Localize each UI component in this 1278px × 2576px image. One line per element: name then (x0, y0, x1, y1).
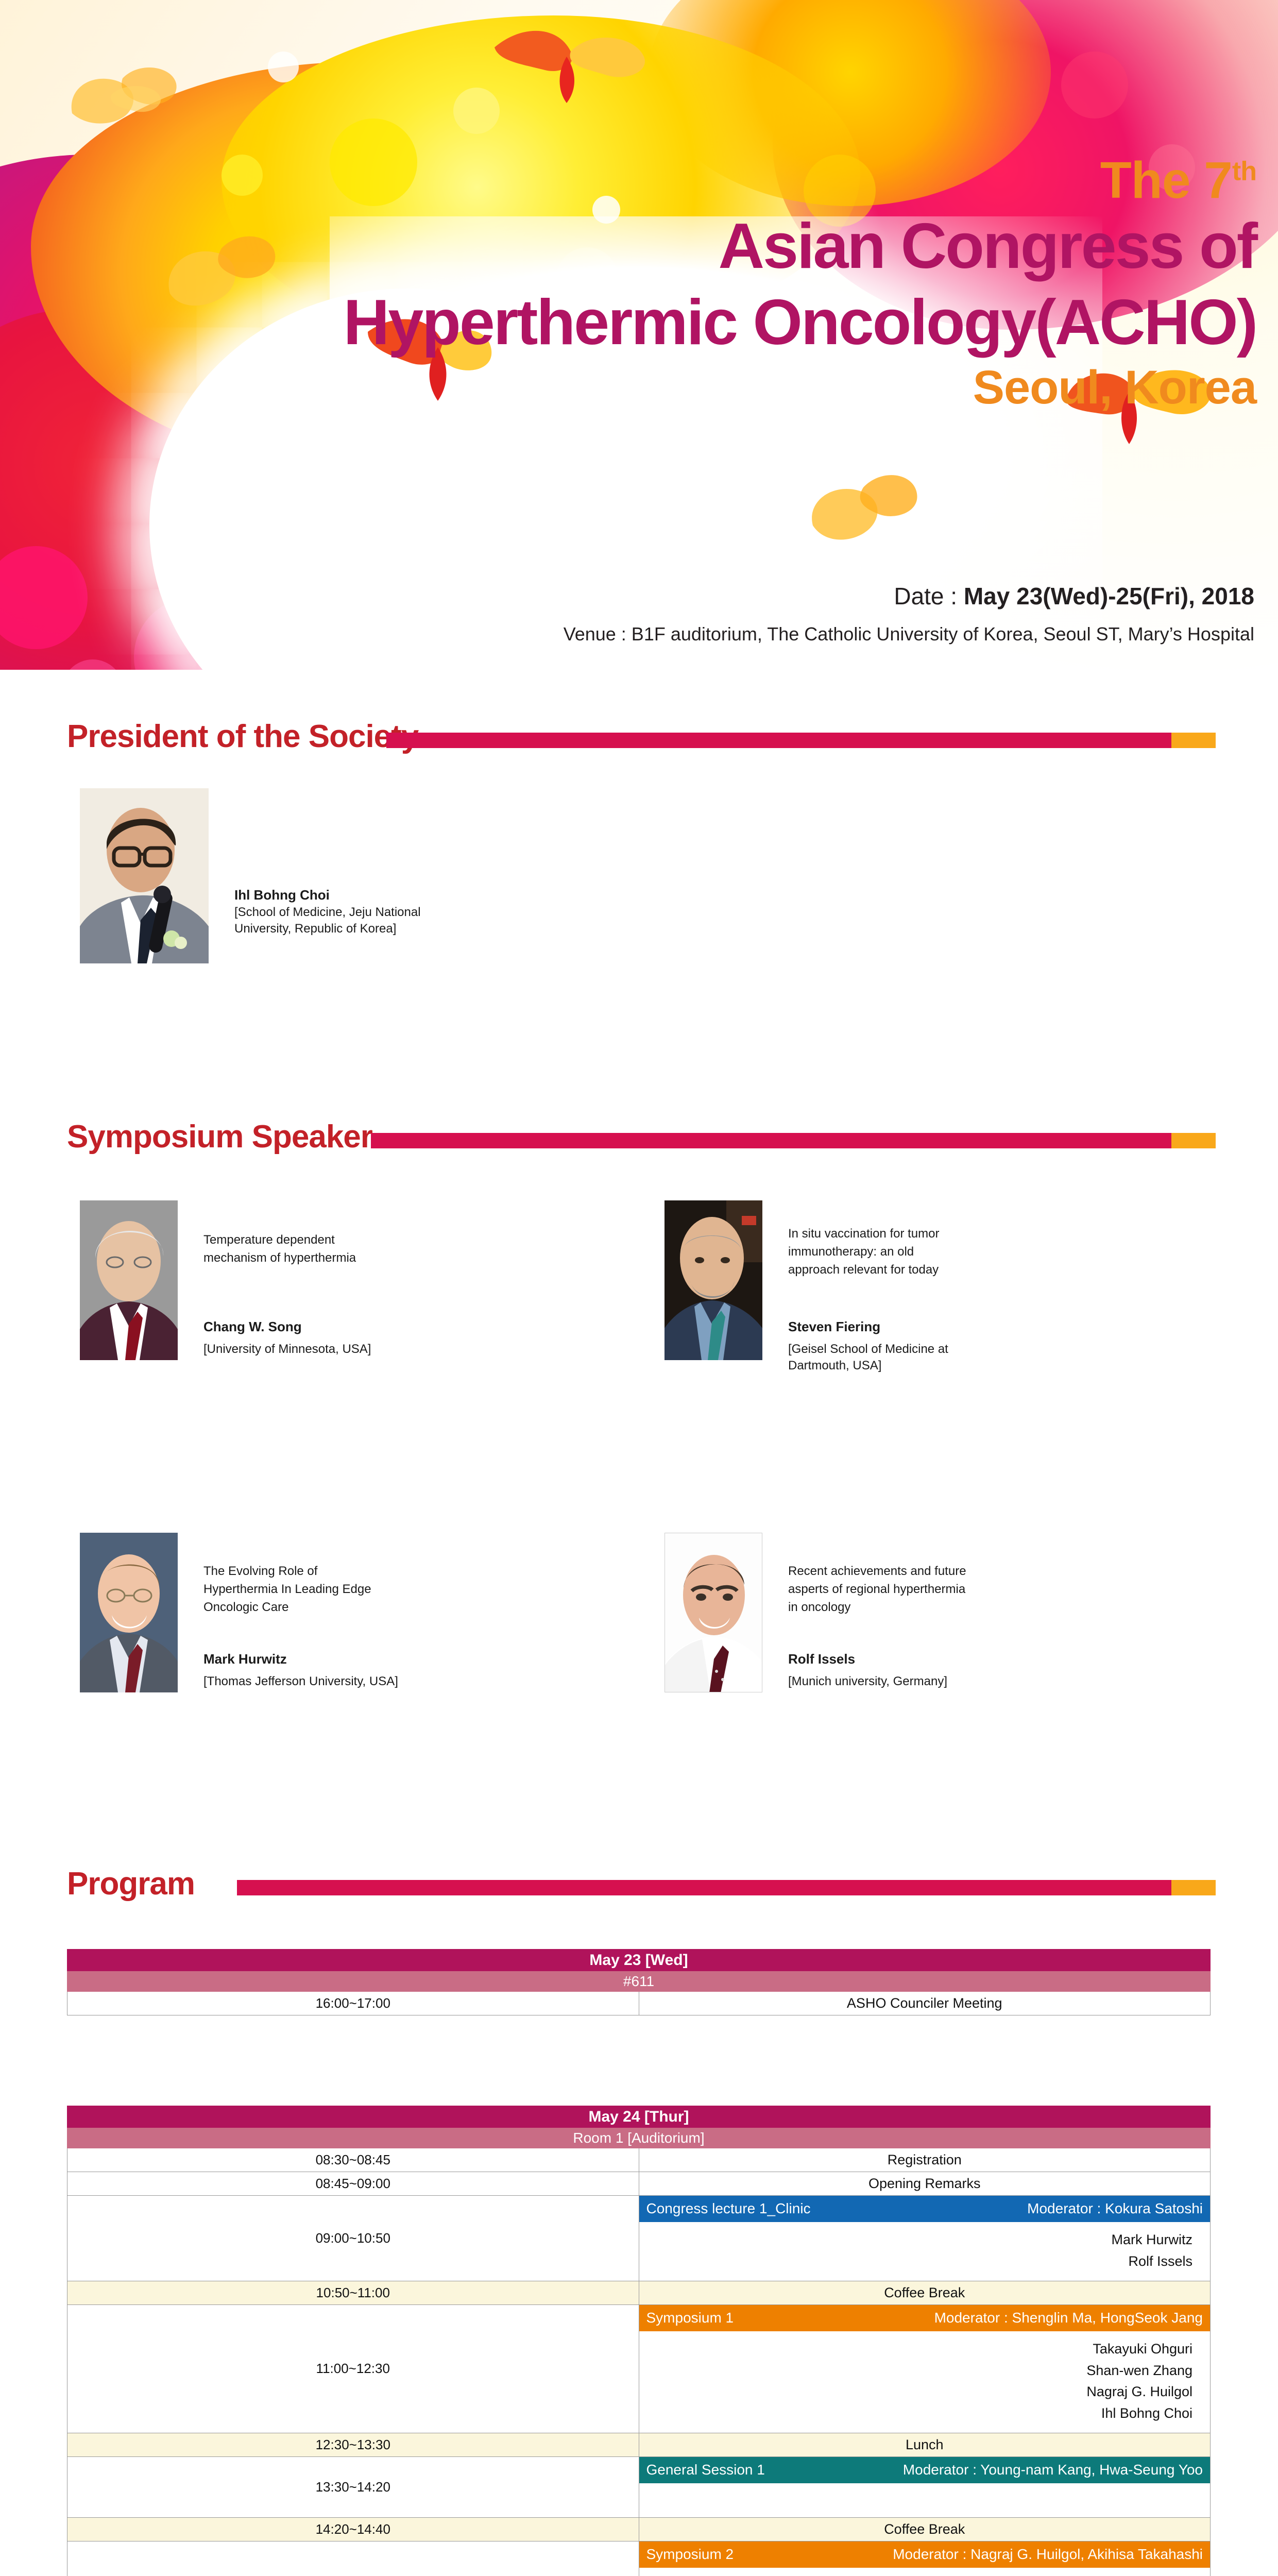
table-row: 11:00~12:30 Symposium 1 Moderator : Shen… (67, 2304, 1211, 2433)
speaker-topic-4-line1: Recent achievements and future (788, 1563, 1118, 1581)
day2-r4-time: 10:50~11:00 (67, 2281, 639, 2304)
day2-r1-time: 08:30~08:45 (67, 2148, 639, 2172)
butterfly-icon (804, 464, 922, 567)
bokeh-circle (268, 52, 299, 82)
session-banner-symposium-2: Symposium 2 Moderator : Nagraj G. Huilgo… (639, 2541, 1211, 2568)
speaker-topic-3-line3: Oncologic Care (203, 1599, 513, 1617)
speaker-topic-3-line1: The Evolving Role of (203, 1563, 513, 1581)
day2-r5-content: Symposium 1 Moderator : Shenglin Ma, Hon… (639, 2304, 1211, 2433)
banner-moderator: Moderator : Shenglin Ma, HongSeok Jang (934, 2309, 1203, 2327)
speaker-entry: Shan-wen Zhang (639, 2360, 1193, 2382)
speaker-topic-1-line1: Temperature dependent (203, 1231, 492, 1249)
day2-r7-time: 13:30~14:20 (67, 2457, 639, 2518)
speaker-affiliation-2-line2: Dartmouth, USA] (788, 1358, 1097, 1374)
day2-r9-speakers: Seongjoo Park Zhibing Wu Shao Xunfan Hwa… (639, 2568, 1211, 2576)
session-banner-symposium-1: Symposium 1 Moderator : Shenglin Ma, Hon… (639, 2305, 1211, 2331)
table-row: 16:00~17:00 ASHO Counciler Meeting (67, 1992, 1211, 2015)
day2-r3-time: 09:00~10:50 (67, 2196, 639, 2281)
banner-title: General Session 1 (646, 2461, 765, 2479)
section-title-program: Program (67, 1866, 195, 1902)
butterfly-icon (160, 227, 278, 330)
speaker-affiliation-2-line1: [Geisel School of Medicine at (788, 1341, 1097, 1358)
event-venue: Venue : B1F auditorium, The Catholic Uni… (564, 623, 1254, 645)
day2-r3-content: Congress lecture 1_Clinic Moderator : Ko… (639, 2196, 1211, 2281)
day2-room: Room 1 [Auditorium] (67, 2128, 1211, 2148)
day2-r8-text: Coffee Break (639, 2518, 1211, 2541)
speaker-name-2: Steven Fiering (788, 1318, 1097, 1336)
speaker-entry: Nagraj G. Huilgol (639, 2381, 1193, 2403)
speaker-entry: Rolf Issels (639, 2251, 1193, 2273)
president-affiliation-line1: [School of Medicine, Jeju National (234, 904, 523, 921)
day2-r5-speakers: Takayuki Ohguri Shan-wen Zhang Nagraj G.… (639, 2331, 1211, 2433)
speaker-topic-3-line2: Hyperthermia In Leading Edge (203, 1581, 513, 1599)
day2-r9-time: 14:40~16:30 (67, 2541, 639, 2576)
speaker-photo-4 (664, 1533, 762, 1692)
date-label: Date : (894, 583, 964, 609)
section-rule-orange (1171, 733, 1216, 748)
poster-title-block: The 7th Asian Congress of Hyperthermic O… (344, 155, 1256, 414)
title-city: Seoul, Korea (344, 362, 1256, 414)
table-row: 09:00~10:50 Congress lecture 1_Clinic Mo… (67, 2196, 1211, 2281)
president-affiliation-line2: University, Republic of Korea] (234, 921, 523, 937)
day1-r1-time: 16:00~17:00 (67, 1992, 639, 2015)
speaker-photo-2 (664, 1200, 762, 1360)
speaker-affiliation-1: [University of Minnesota, USA] (203, 1341, 492, 1358)
president-name: Ihl Bohng Choi (234, 886, 523, 904)
speaker-photo-3 (80, 1533, 178, 1692)
butterfly-icon (62, 52, 185, 139)
section-rule-orange (1171, 1880, 1216, 1895)
conference-poster: The 7th Asian Congress of Hyperthermic O… (0, 0, 1278, 2576)
speaker-topic-4-line2: asperts of regional hyperthermia (788, 1581, 1118, 1599)
day2-r5-time: 11:00~12:30 (67, 2304, 639, 2433)
section-title-speakers: Symposium Speaker (67, 1118, 372, 1155)
day1-header: May 23 [Wed] (67, 1950, 1211, 1971)
section-rule-pink (386, 733, 1171, 748)
banner-title: Symposium 1 (646, 2309, 734, 2327)
program-table-day1: May 23 [Wed] #611 16:00~17:00 ASHO Counc… (67, 1949, 1211, 2015)
day2-r6-text: Lunch (639, 2433, 1211, 2457)
speaker-name-1: Chang W. Song (203, 1318, 492, 1336)
day2-r7-body (639, 2483, 1211, 2517)
table-row: 10:50~11:00 Coffee Break (67, 2281, 1211, 2304)
table-row: 14:20~14:40 Coffee Break (67, 2518, 1211, 2541)
president-photo (80, 788, 209, 963)
speaker-affiliation-3: [Thomas Jefferson University, USA] (203, 1673, 513, 1690)
date-value: May 23(Wed)-25(Fri), 2018 (964, 583, 1254, 609)
section-header-program: Program (67, 1868, 1216, 1904)
day2-r6-time: 12:30~13:30 (67, 2433, 639, 2457)
bokeh-circle (221, 155, 263, 196)
day1-room: #611 (67, 1971, 1211, 1992)
table-row: 14:40~16:30 Symposium 2 Moderator : Nagr… (67, 2541, 1211, 2576)
speaker-topic-2-line2: immunotherapy: an old (788, 1243, 1097, 1261)
speaker-topic-1-line2: mechanism of hyperthermia (203, 1249, 492, 1267)
speaker-topic-2-line3: approach relevant for today (788, 1261, 1097, 1279)
section-rule-pink (371, 1133, 1171, 1148)
table-row: Room 1 [Auditorium] (67, 2128, 1211, 2148)
day2-header: May 24 [Thur] (67, 2106, 1211, 2128)
day2-r9-content: Symposium 2 Moderator : Nagraj G. Huilgo… (639, 2541, 1211, 2576)
banner-moderator: Moderator : Young-nam Kang, Hwa-Seung Yo… (903, 2461, 1203, 2479)
ordinal-label: The 7th (344, 155, 1256, 206)
banner-title: Symposium 2 (646, 2545, 734, 2563)
day1-r1-text: ASHO Counciler Meeting (639, 1992, 1211, 2015)
day2-r8-time: 14:20~14:40 (67, 2518, 639, 2541)
speaker-topic-2-line1: In situ vaccination for tumor (788, 1225, 1097, 1243)
program-table-day2: May 24 [Thur] Room 1 [Auditorium] 08:30~… (67, 2106, 1211, 2576)
day2-r1-text: Registration (639, 2148, 1211, 2172)
speaker-entry: Ihl Bohng Choi (639, 2403, 1193, 2425)
table-row: 13:30~14:20 General Session 1 Moderator … (67, 2457, 1211, 2518)
table-row: #611 (67, 1971, 1211, 1992)
speaker-topic-4-line3: in oncology (788, 1599, 1118, 1617)
day2-r3-speakers: Mark Hurwitz Rolf Issels (639, 2222, 1211, 2281)
bokeh-circle (1061, 52, 1128, 118)
table-row: May 23 [Wed] (67, 1950, 1211, 1971)
speaker-photo-1 (80, 1200, 178, 1360)
section-header-president: President of the Society (67, 720, 1216, 756)
speaker-affiliation-4: [Munich university, Germany] (788, 1673, 1118, 1690)
day2-r4-text: Coffee Break (639, 2281, 1211, 2304)
speaker-entry: Mark Hurwitz (639, 2229, 1193, 2251)
event-date: Date : May 23(Wed)-25(Fri), 2018 (894, 582, 1254, 610)
table-row: May 24 [Thur] (67, 2106, 1211, 2128)
session-banner-general-session-1: General Session 1 Moderator : Young-nam … (639, 2457, 1211, 2483)
banner-moderator: Moderator : Kokura Satoshi (1027, 2199, 1203, 2217)
title-line-2: Hyperthermic Oncology(ACHO) (344, 286, 1256, 359)
day2-r2-time: 08:45~09:00 (67, 2172, 639, 2196)
section-header-speakers: Symposium Speaker (67, 1121, 1216, 1157)
table-row: 08:30~08:45 Registration (67, 2148, 1211, 2172)
speaker-name-4: Rolf Issels (788, 1650, 1118, 1668)
butterfly-icon (489, 21, 654, 108)
title-line-1: Asian Congress of (344, 210, 1256, 282)
day2-r2-text: Opening Remarks (639, 2172, 1211, 2196)
table-row: 08:45~09:00 Opening Remarks (67, 2172, 1211, 2196)
speaker-entry: Takayuki Ohguri (639, 2338, 1193, 2360)
table-row: 12:30~13:30 Lunch (67, 2433, 1211, 2457)
session-banner-congress-lecture-1: Congress lecture 1_Clinic Moderator : Ko… (639, 2196, 1211, 2222)
section-rule-orange (1171, 1133, 1216, 1148)
speaker-name-3: Mark Hurwitz (203, 1650, 513, 1668)
banner-moderator: Moderator : Nagraj G. Huilgol, Akihisa T… (893, 2545, 1203, 2563)
day2-r7-content: General Session 1 Moderator : Young-nam … (639, 2457, 1211, 2518)
banner-title: Congress lecture 1_Clinic (646, 2199, 811, 2217)
section-rule-pink (237, 1880, 1171, 1895)
section-title-president: President of the Society (67, 718, 418, 755)
